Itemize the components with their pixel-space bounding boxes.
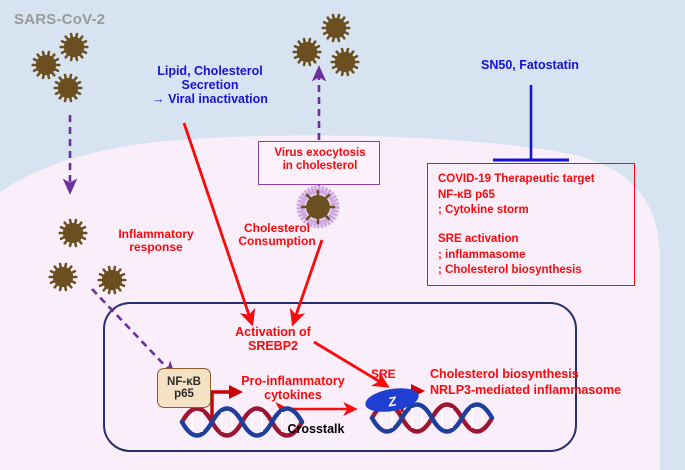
cholesterol-consumption-line-2: Consumption — [222, 235, 332, 248]
therapeutic-line-1: COVID-19 Therapeutic target — [438, 172, 595, 188]
inflammatory-line-2: response — [96, 241, 216, 254]
lipid-secretion-line-3: → Viral inactivation — [140, 92, 280, 106]
inflammatory-response-label: Inflammatory response — [96, 228, 216, 255]
nfkb-p65-node: NF-κB p65 — [157, 368, 211, 408]
cholesterol-consumption-label: Cholesterol Consumption — [222, 222, 332, 249]
virus-exocytosis-line-2: in cholesterol — [259, 160, 381, 173]
diagram-canvas: Z SARS-CoV-2 Lipid, Cholesterol Secretio… — [0, 0, 685, 470]
proinflam-line-1: Pro-inflammatory — [228, 374, 358, 388]
nfkb-line-1: NF-κB — [167, 376, 201, 388]
therapeutic-line-5: ; inflammasome — [438, 248, 582, 264]
therapeutic-line-3: ; Cytokine storm — [438, 203, 595, 219]
activation-line-1: Activation of — [213, 325, 333, 339]
virus-exocytosis-line-1: Virus exocytosis — [259, 147, 381, 160]
crosstalk-label: Crosstalk — [278, 422, 354, 436]
virus-exocytosis-text: Virus exocytosis in cholesterol — [259, 147, 381, 173]
lipid-secretion-line-2: Secretion — [140, 78, 280, 92]
nfkb-line-2: p65 — [174, 388, 194, 400]
activation-line-2: SREBP2 — [213, 339, 333, 353]
therapeutic-line-4: SRE activation — [438, 232, 582, 248]
sn50-fatostatin-label: SN50, Fatostatin — [481, 58, 579, 72]
proinflam-line-2: cytokines — [228, 388, 358, 402]
therapeutic-target-group-1: COVID-19 Therapeutic target NF-κB p65 ; … — [438, 172, 595, 219]
lipid-secretion-label: Lipid, Cholesterol Secretion → Viral ina… — [140, 64, 280, 106]
sre-label: SRE — [371, 368, 396, 381]
outcome-line-2: NRLP3-mediated inflammasome — [430, 382, 621, 398]
therapeutic-target-group-2: SRE activation ; inflammasome ; Choleste… — [438, 232, 582, 279]
virus-exocytosis-box: Virus exocytosis in cholesterol — [258, 141, 380, 185]
therapeutic-line-2: NF-κB p65 — [438, 188, 595, 204]
outcome-label: Cholesterol biosynthesis NRLP3-mediated … — [430, 366, 621, 399]
proinflammatory-cytokines-label: Pro-inflammatory cytokines — [228, 374, 358, 402]
therapeutic-target-box: COVID-19 Therapeutic target NF-κB p65 ; … — [427, 163, 635, 286]
lipid-secretion-line-1: Lipid, Cholesterol — [140, 64, 280, 78]
sars-cov-2-label: SARS-CoV-2 — [14, 12, 105, 29]
cholesterol-consumption-line-1: Cholesterol — [222, 222, 332, 235]
inflammatory-line-1: Inflammatory — [96, 228, 216, 241]
outcome-line-1: Cholesterol biosynthesis — [430, 366, 621, 382]
srebp2-activation-label: Activation of SREBP2 — [213, 325, 333, 353]
therapeutic-line-6: ; Cholesterol biosynthesis — [438, 263, 582, 279]
